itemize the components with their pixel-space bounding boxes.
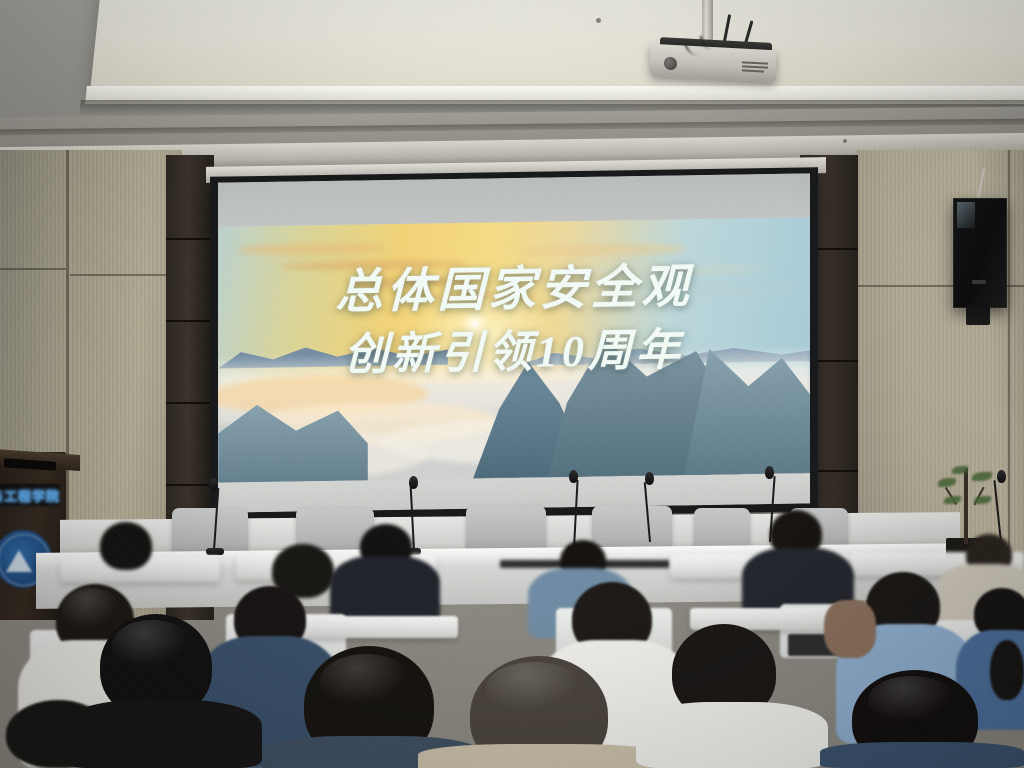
wall-panel-seam — [0, 268, 66, 270]
slide-title-line2: 创新引领10周年 — [218, 311, 810, 384]
audience-head — [6, 700, 110, 768]
audience-head — [100, 522, 152, 570]
ceiling-cove-recess — [90, 0, 1024, 94]
audience-hair-highlight — [62, 588, 122, 632]
projection-screen: 总体国家安全观 创新引领10周年 — [218, 173, 810, 512]
projected-slide: 总体国家安全观 创新引领10周年 — [218, 217, 810, 482]
audience-arm — [824, 600, 876, 658]
audience-hair-highlight — [486, 662, 584, 714]
podium-sign-text: 与工程学院 — [0, 486, 60, 505]
dark-wall-seam — [166, 238, 214, 240]
lecture-hall-photo: 总体国家安全观 创新引领10周年 与工程学院 — [0, 0, 1024, 768]
wall-panel-seam — [70, 274, 166, 276]
audience-body — [636, 702, 828, 768]
audience-body — [820, 742, 1024, 768]
speaker-mount-bracket — [966, 305, 990, 325]
dark-wall-seam — [166, 484, 214, 486]
mic-head-icon — [997, 470, 1006, 483]
mic-head-icon — [645, 472, 654, 485]
plant-stem — [964, 468, 968, 544]
podium-led-sign: 与工程学院 — [0, 484, 60, 506]
speaker-logo-icon — [972, 280, 986, 284]
audience-hair-highlight — [320, 654, 412, 708]
speaker-reflection — [957, 202, 975, 228]
audience-hair-highlight — [868, 676, 956, 724]
projector-lens-icon — [664, 57, 677, 71]
ceiling-sensor-dot — [843, 139, 847, 143]
ceiling-sensor-dot — [596, 18, 601, 23]
audience-body — [418, 744, 668, 768]
emblem-mountain-shape — [6, 550, 32, 572]
mic-base — [206, 548, 224, 555]
dark-wall-seam — [166, 320, 214, 322]
audience-head — [990, 640, 1024, 700]
audience-hair-highlight — [112, 620, 192, 670]
dark-wall-seam — [166, 402, 214, 404]
